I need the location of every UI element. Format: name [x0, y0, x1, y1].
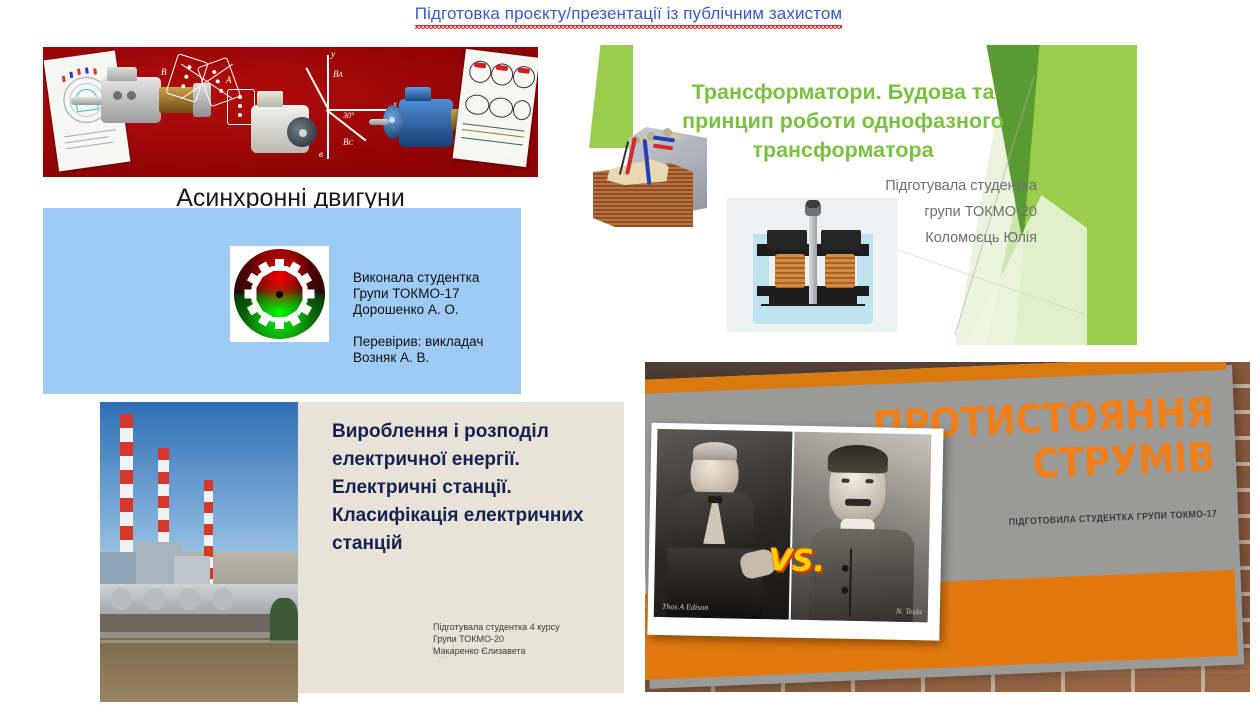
slide3-credit-line-2: Групи ТОКМО-20 [433, 633, 623, 645]
presentation-title-card: ПРОТИСТОЯННЯ СТРУМІВ ПІДГОТОВИЛА СТУДЕНТ… [645, 362, 1238, 680]
edison-vs-tesla-photo: Thos A Edison N. Tesla VS. [647, 423, 943, 641]
slide2-credit-line-1: Підготувала студентка [775, 173, 1037, 199]
slide1-reviewer-line-1: Перевірив: викладач [353, 334, 518, 350]
motor-cross-section-graphic [230, 246, 329, 342]
page-title[interactable]: Підготовка проєкту/презентації із публіч… [0, 0, 1257, 30]
versus-label: VS. [768, 543, 829, 592]
transformer-core-3d-diagram [587, 125, 727, 260]
slide1-author-line-3: Дорошенко А. О. [353, 302, 518, 318]
slide1-author-line-1: Виконала студентка [353, 270, 518, 286]
slide-collage-page: Підготовка проєкту/презентації із публіч… [0, 0, 1257, 705]
slide1-author-line-2: Групи ТОКМО-17 [353, 286, 518, 302]
slide1-body-panel: Виконала студентка Групи ТОКМО-17 Дороше… [43, 208, 521, 394]
slide3-credit-line-3: Макаренко Єлизавета [433, 645, 623, 657]
slide3-credit-line-1: Підготувала студентка 4 курсу [433, 621, 623, 633]
slide-asynchronous-motors[interactable]: B A y x BA BC 30° в [43, 47, 538, 394]
demonstration-transformer-photo [727, 198, 897, 332]
power-plant-chimneys-photo [100, 402, 298, 702]
asynchronous-motor-collage: B A y x BA BC 30° в [43, 47, 538, 177]
spellcheck-underline [415, 25, 842, 29]
page-title-text: Підготовка проєкту/презентації із публіч… [415, 4, 842, 23]
slide-power-generation[interactable]: Вироблення і розподіл електричної енергі… [100, 402, 624, 702]
nikola-tesla-portrait: N. Tesla [791, 432, 932, 623]
slide3-credits: Підготувала студентка 4 курсу Групи ТОКМ… [433, 621, 623, 657]
slide-current-wars[interactable]: ПРОТИСТОЯННЯ СТРУМІВ ПІДГОТОВИЛА СТУДЕНТ… [645, 362, 1250, 692]
slide1-credits: Виконала студентка Групи ТОКМО-17 Дороше… [353, 270, 518, 366]
slide-transformers[interactable]: Трансформатори. Будова та принцип роботи… [575, 45, 1137, 345]
slide1-reviewer-line-2: Возняк А. В. [353, 350, 518, 366]
motor-diagram-paper [453, 49, 538, 167]
slide3-title: Вироблення і розподіл електричної енергі… [332, 418, 622, 558]
